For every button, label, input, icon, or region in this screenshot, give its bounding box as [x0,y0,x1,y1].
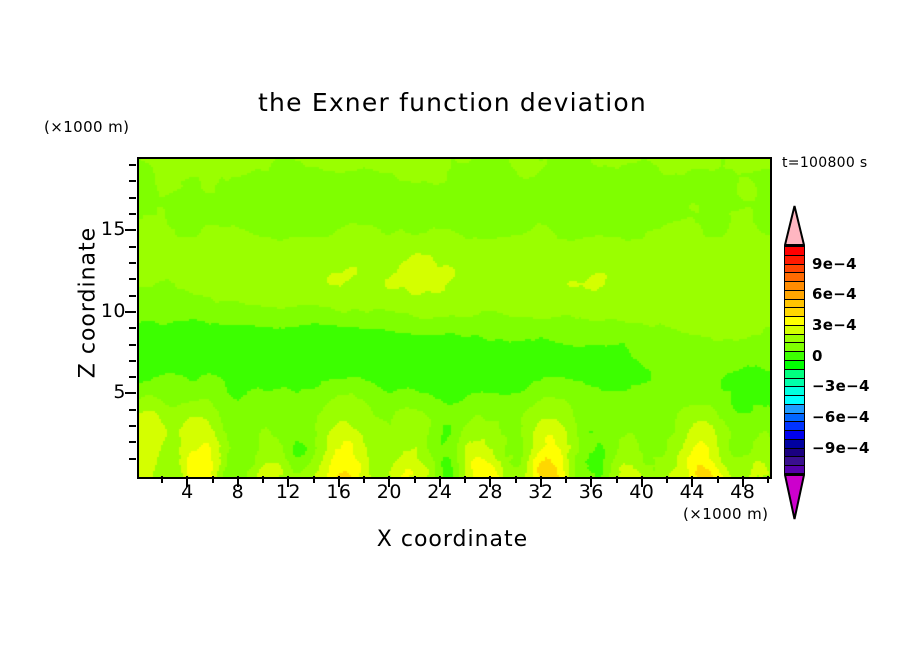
colorbar-tick-line [784,404,805,405]
x-tick-minor [464,476,466,483]
y-tick-major [125,311,136,313]
x-tick-label: 8 [215,481,261,503]
colorbar-tick-line [784,421,805,422]
colorbar-tick-line [784,351,805,352]
x-tick-label: 40 [619,481,665,503]
x-tick-minor [363,476,365,483]
y-tick-minor [129,409,136,411]
x-tick-minor [616,476,618,483]
colorbar-tick-line [784,386,805,387]
colorbar-tick-line [784,342,805,343]
y-tick-minor [129,164,136,166]
x-tick-label: 12 [265,481,311,503]
colorbar-tick-line [784,378,805,379]
x-tick-label: 44 [669,481,715,503]
y-tick-label: 10 [92,300,126,322]
x-tick-label: 16 [316,481,362,503]
y-tick-minor [129,295,136,297]
x-tick-minor [414,476,416,483]
colorbar-tick-line [784,307,805,308]
colorbar-tick-line [784,264,805,265]
colorbar-label: −6e−4 [812,408,870,426]
contour-field [139,159,770,477]
x-tick-minor [767,476,769,483]
x-tick-label: 4 [164,481,210,503]
colorbar [784,246,805,474]
y-tick-label: 5 [92,381,126,403]
colorbar-tick-line [784,246,805,247]
y-tick-minor [129,441,136,443]
colorbar-tick-line [784,430,805,431]
x-tick-label: 24 [417,481,463,503]
x-tick-minor [212,476,214,483]
colorbar-label: 0 [812,347,823,365]
colorbar-tick-line [784,369,805,370]
y-tick-minor [129,197,136,199]
x-tick-minor [161,476,163,483]
y-tick-minor [129,180,136,182]
x-axis-title: X coordinate [137,527,768,552]
colorbar-tick-line [784,290,805,291]
colorbar-label: −9e−4 [812,439,870,457]
colorbar-tick-line [784,281,805,282]
x-tick-label: 36 [568,481,614,503]
colorbar-tick-line [784,316,805,317]
colorbar-tick-line [784,325,805,326]
colorbar-tick-line [784,299,805,300]
colorbar-tick-line [784,255,805,256]
colorbar-label: 3e−4 [812,316,857,334]
x-tick-minor [262,476,264,483]
colorbar-tick-line [784,456,805,457]
y-tick-minor [129,376,136,378]
x-tick-label: 28 [467,481,513,503]
x-axis-unit-label: (×1000 m) [683,505,768,523]
y-tick-minor [129,344,136,346]
x-tick-minor [666,476,668,483]
colorbar-top-arrow [784,205,805,246]
y-tick-minor [129,262,136,264]
colorbar-label: −3e−4 [812,377,870,395]
y-tick-minor [129,246,136,248]
x-tick-minor [565,476,567,483]
y-tick-major [125,229,136,231]
contour-plot-area [137,157,772,479]
colorbar-tick-line [784,334,805,335]
x-tick-minor [313,476,315,483]
y-tick-minor [129,213,136,215]
y-tick-major [125,392,136,394]
y-tick-label: 15 [92,218,126,240]
x-tick-minor [717,476,719,483]
timestamp-annotation: t=100800 s [782,155,867,171]
colorbar-tick-line [784,272,805,273]
y-tick-minor [129,360,136,362]
y-tick-minor [129,458,136,460]
colorbar-tick-line [784,360,805,361]
y-tick-minor [129,425,136,427]
y-axis-unit-label: (×1000 m) [44,118,129,136]
colorbar-bottom-arrow [784,474,805,520]
y-tick-minor [129,327,136,329]
x-tick-label: 32 [518,481,564,503]
chart-title: the Exner function deviation [258,88,647,117]
y-tick-minor [129,278,136,280]
x-tick-label: 20 [366,481,412,503]
colorbar-tick-line [784,413,805,414]
x-tick-minor [515,476,517,483]
colorbar-tick-line [784,395,805,396]
colorbar-tick-line [784,448,805,449]
colorbar-tick-line [784,465,805,466]
colorbar-label: 6e−4 [812,285,857,303]
figure-root: the Exner function deviation (×1000 m) (… [0,0,904,654]
colorbar-label: 9e−4 [812,255,857,273]
chart-title-wrap: the Exner function deviation [137,88,768,117]
x-tick-label: 48 [720,481,766,503]
colorbar-tick-line [784,439,805,440]
